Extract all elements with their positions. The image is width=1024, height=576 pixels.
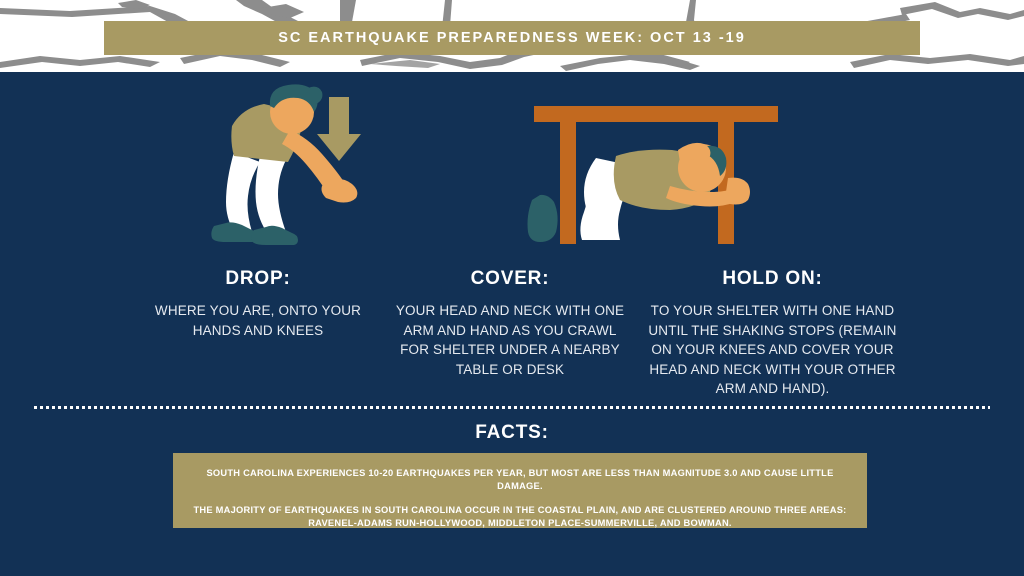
fact-spacer — [189, 493, 851, 504]
column-drop-body: WHERE YOU ARE, ONTO YOUR HANDS AND KNEES — [148, 301, 368, 340]
illustration-row — [0, 72, 1024, 262]
facts-heading: FACTS: — [0, 422, 1024, 444]
column-hold-on-body: TO YOUR SHELTER WITH ONE HAND UNTIL THE … — [640, 301, 905, 399]
column-cover: COVER: YOUR HEAD AND NECK WITH ONE ARM A… — [389, 268, 631, 379]
fact-item: THE MAJORITY OF EARTHQUAKES IN SOUTH CAR… — [189, 504, 851, 517]
main-content: DROP: WHERE YOU ARE, ONTO YOUR HANDS AND… — [0, 72, 1024, 576]
dotted-divider — [34, 406, 990, 409]
title-banner: SC EARTHQUAKE PREPAREDNESS WEEK: OCT 13 … — [104, 21, 920, 55]
fact-item: SOUTH CAROLINA EXPERIENCES 10-20 EARTHQU… — [189, 467, 851, 493]
page-title: SC EARTHQUAKE PREPAREDNESS WEEK: OCT 13 … — [278, 30, 746, 46]
facts-box: SOUTH CAROLINA EXPERIENCES 10-20 EARTHQU… — [173, 453, 867, 528]
drop-illustration-icon — [196, 82, 386, 257]
fact-item: RAVENEL-ADAMS RUN-HOLLYWOOD, MIDDLETON P… — [189, 517, 851, 530]
cover-hold-illustration-icon — [520, 100, 792, 260]
column-drop-heading: DROP: — [148, 268, 368, 290]
column-cover-heading: COVER: — [389, 268, 631, 290]
column-hold-on-heading: HOLD ON: — [640, 268, 905, 290]
column-drop: DROP: WHERE YOU ARE, ONTO YOUR HANDS AND… — [148, 268, 368, 340]
column-hold-on: HOLD ON: TO YOUR SHELTER WITH ONE HAND U… — [640, 268, 905, 399]
infographic-page: SC EARTHQUAKE PREPAREDNESS WEEK: OCT 13 … — [0, 0, 1024, 576]
column-cover-body: YOUR HEAD AND NECK WITH ONE ARM AND HAND… — [389, 301, 631, 379]
